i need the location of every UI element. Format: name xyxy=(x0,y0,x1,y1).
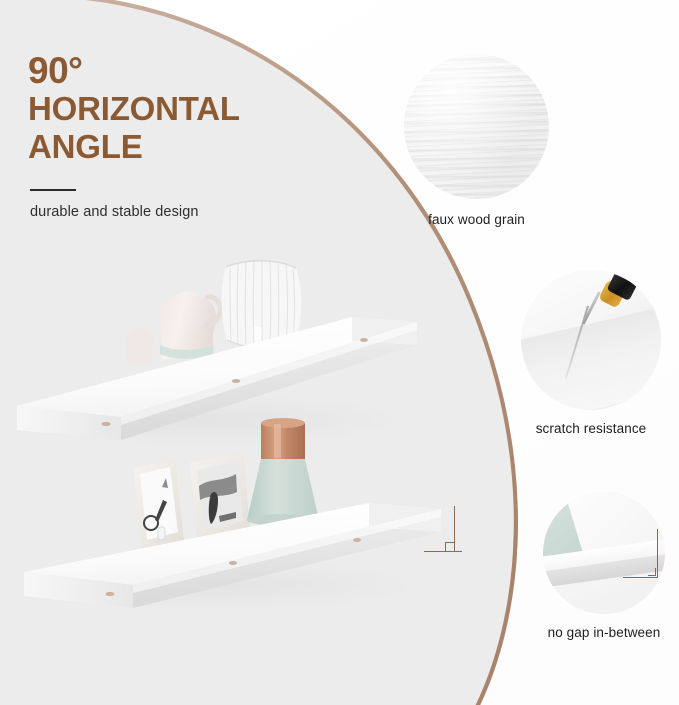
screw-hole xyxy=(102,422,111,426)
upper-shelf xyxy=(5,260,417,446)
feature-caption-faux-wood-grain: faux wood grain xyxy=(404,212,549,227)
screw-hole xyxy=(232,379,240,383)
small-white-vase xyxy=(125,327,153,363)
screw-hole xyxy=(360,338,368,342)
feature-caption-no-gap-in-between: no gap in-between xyxy=(474,625,679,640)
screwdriver-scratch-icon xyxy=(521,270,661,410)
screw-hole xyxy=(353,538,361,542)
feature-scratch-resistance: scratch resistance xyxy=(521,270,661,436)
gap-angle-marker xyxy=(623,529,658,578)
photo-frame-small xyxy=(190,452,250,541)
corner-marker-horizontal xyxy=(424,551,462,552)
screw-hole xyxy=(106,592,115,596)
feature-faux-wood-grain: faux wood grain xyxy=(404,54,549,227)
wood-grain-swatch-icon xyxy=(404,54,549,199)
lower-shelf xyxy=(10,418,441,611)
shelf-corner-angle-icon xyxy=(543,492,665,614)
infographic-canvas: 90° HORIZONTAL ANGLE durable and stable … xyxy=(0,0,679,705)
corner-marker-right-angle-square xyxy=(445,542,454,551)
screw-hole xyxy=(229,561,237,565)
feature-no-gap-in-between: no gap in-between xyxy=(543,492,665,614)
photo-frame-large xyxy=(133,459,184,551)
90-degree-corner-marker xyxy=(424,506,466,558)
feature-caption-scratch-resistance: scratch resistance xyxy=(521,421,661,436)
